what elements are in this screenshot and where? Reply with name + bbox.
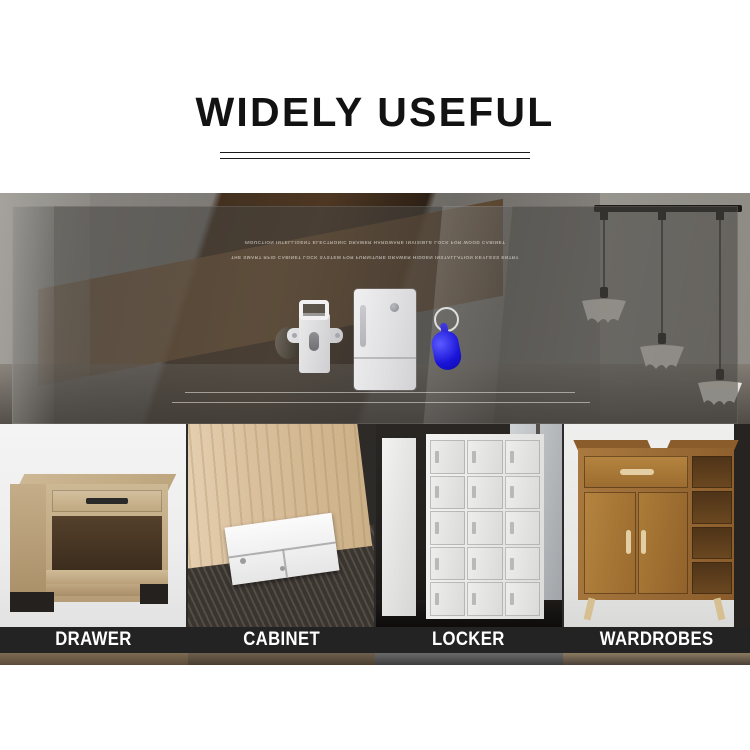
nightstand-side-panel [10,484,48,602]
wardrobe-shelf [692,562,732,594]
locker-door [467,476,502,510]
hero-banner: THE SMART RFID CABINET LOCK SYSTEM FOR F… [0,193,750,424]
nightstand-foot-right [140,584,168,604]
gallery-label-bar: DRAWER CABINET LOCKER WARDROBES [0,627,750,653]
strip-locker [375,653,563,665]
hero-accent-line-1 [185,392,575,393]
locker-door [467,547,502,581]
gallery-label-wardrobes: WARDROBES [599,629,713,651]
rfid-reader-module [354,289,416,390]
lock-module-screw-2 [280,566,285,571]
wardrobe-shelf [692,527,732,559]
nightstand-bottom-shelf [46,570,168,584]
label-cell-drawer[interactable]: DRAWER [0,627,188,653]
gallery-item-wardrobes[interactable] [564,424,750,628]
strip-drawer [0,653,188,665]
page-title-block: WIDELY USEFUL [0,92,750,159]
reader-case-seam [354,357,416,359]
gallery-bottom-strip [0,653,750,665]
locker-door [430,476,465,510]
locker-door [467,440,502,474]
gallery-label-cabinet: CABINET [243,629,320,651]
locker-door [430,547,465,581]
lock-screw-hole-left [292,333,297,338]
lock-module-screw-1 [240,558,246,564]
wardrobe-drawer-handle [620,469,654,475]
gallery-label-drawer: DRAWER [56,629,132,651]
product-group [275,282,475,392]
locker-door [430,511,465,545]
locker-door [505,511,540,545]
wardrobe-handle-left [626,530,631,554]
page-title: WIDELY USEFUL [0,92,750,133]
gallery-item-cabinet[interactable] [188,424,374,628]
reader-side-strip [360,305,366,347]
hero-description-line-1: THE SMART RFID CABINET LOCK SYSTEM FOR F… [0,250,750,265]
product-feature-page: WIDELY USEFUL [0,0,750,750]
hero-description-line-2: INDUCTION INTELLIGENT ELECTRONIC DRAWER … [0,235,750,250]
gallery-item-locker[interactable] [376,424,562,628]
locker-door [430,582,465,616]
label-cell-cabinet[interactable]: CABINET [188,627,376,653]
locker-door [467,511,502,545]
label-cell-wardrobes[interactable]: WARDROBES [563,627,750,653]
locker-door [505,582,540,616]
locker-door [505,547,540,581]
nightstand-open-shelf-cavity [52,516,162,572]
locker-door-grid [430,440,540,616]
nightstand-foot-left [10,592,54,612]
lock-keyway-slot [309,332,319,351]
wardrobe-shelf [692,491,732,523]
tall-locker-unit [382,438,416,616]
gallery-label-locker: LOCKER [432,629,505,651]
reader-led-indicator [390,303,399,312]
locker-door [430,440,465,474]
wardrobe-shelf [692,456,732,488]
nightstand-drawer-handle [86,498,128,504]
locker-door [505,476,540,510]
locker-door [505,440,540,474]
blue-rfid-keyfob [430,329,464,372]
lock-strike-hook [299,300,329,320]
title-divider [220,152,530,159]
label-cell-locker[interactable]: LOCKER [375,627,563,653]
hero-accent-line-2 [172,402,590,403]
wardrobe-scene-edge [734,424,750,628]
wardrobe-handle-right [641,530,646,554]
strip-wardrobes [563,653,750,665]
gallery-item-drawer[interactable] [0,424,186,628]
wardrobe-open-shelves [692,456,732,594]
lock-screw-hole-right [335,333,340,338]
strip-cabinet [188,653,376,665]
application-gallery [0,424,750,628]
hero-description-text: THE SMART RFID CABINET LOCK SYSTEM FOR F… [0,235,750,265]
locker-door [467,582,502,616]
